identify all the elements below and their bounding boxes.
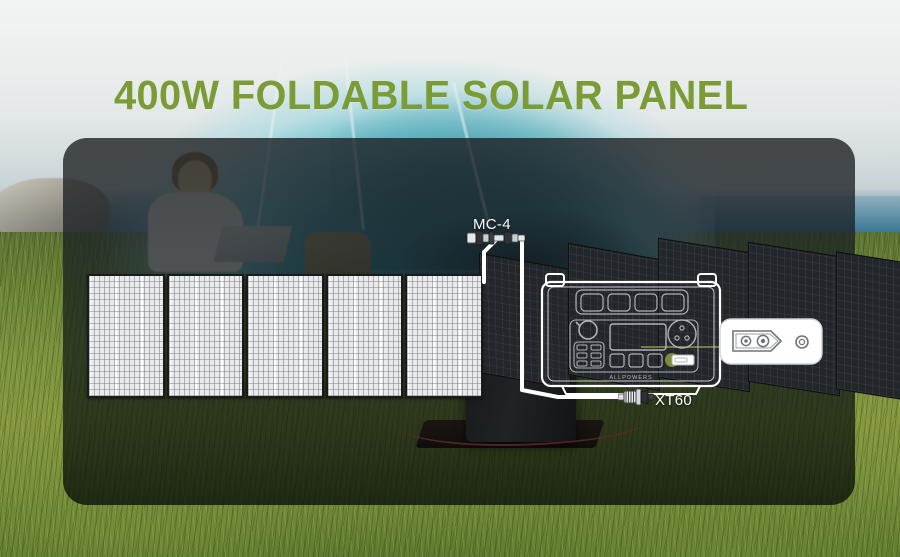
dc-port [629,354,643,367]
panel-cell-grid [169,276,243,396]
panel-cell-grid [407,276,481,396]
mc4-label: MC-4 [473,216,511,233]
panel-cell-grid [89,276,163,396]
panel-segment [167,274,245,398]
panel-segment [836,251,900,400]
brand-label: ALLPOWERS [609,375,652,381]
xt60-label: XT60 [655,392,692,409]
dc-port [648,354,662,367]
ac-outlet [635,294,657,311]
lcd-display [610,324,666,350]
panel-segment [246,274,324,398]
foldable-solar-panel [87,274,483,398]
panel-segment [326,274,404,398]
panel-cell-grid [248,276,322,396]
dc-port [610,354,624,367]
page-title: 400W FOLDABLE SOLAR PANEL [114,72,793,119]
ac-outlet [581,294,603,311]
ac-outlet [662,294,684,311]
xt60-connector-icon [618,387,654,412]
panel-segment [405,274,483,398]
power-station-illustration: ALLPOWERS [536,268,726,398]
ac-outlet [608,294,630,311]
panel-cell-grid [328,276,402,396]
screenshot-stage: 400W FOLDABLE SOLAR PANEL [0,0,900,557]
panel-segment [87,274,165,398]
junction-box-illustration [719,318,823,365]
